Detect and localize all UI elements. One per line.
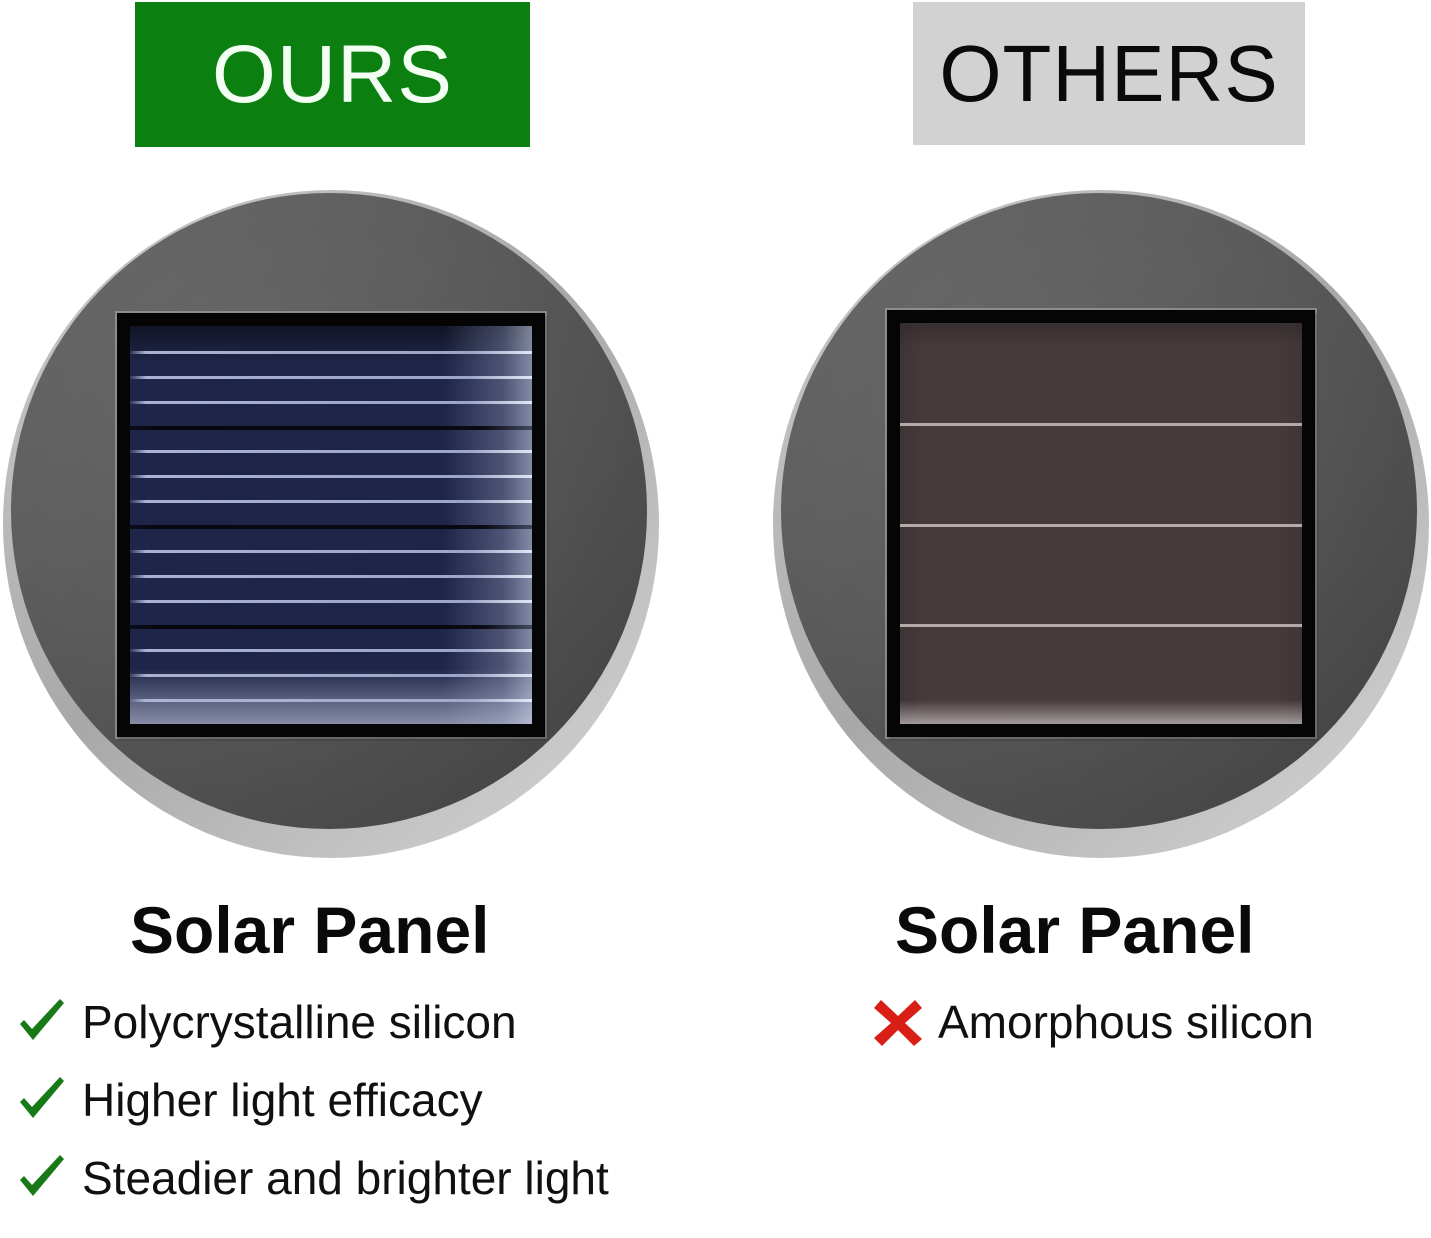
cross-icon — [872, 996, 924, 1048]
cell-busbar-light — [130, 401, 532, 404]
check-icon — [16, 1074, 68, 1126]
feature-row: Steadier and brighter light — [16, 1150, 609, 1206]
cell-busbar-light — [900, 524, 1302, 527]
ours-banner: OURS — [135, 2, 530, 147]
comparison-infographic: OURS OTHERS Solar Panel Solar Panel Poly… — [0, 0, 1431, 1238]
cell-busbar-dark — [130, 525, 532, 529]
right-panel-title: Solar Panel — [895, 897, 1255, 963]
cell-busbar-light — [130, 550, 532, 553]
feature-label: Amorphous silicon — [938, 999, 1314, 1045]
cell-busbar-dark — [130, 426, 532, 430]
left-feature-list: Polycrystalline siliconHigher light effi… — [16, 994, 609, 1206]
polycrystalline-cell — [130, 326, 532, 724]
cell-busbar-light — [130, 600, 532, 603]
cell-busbar-light — [900, 624, 1302, 627]
cell-busbar-light — [130, 649, 532, 652]
feature-label: Polycrystalline silicon — [82, 999, 517, 1045]
check-icon — [16, 996, 68, 1048]
others-banner: OTHERS — [913, 2, 1305, 145]
cell-busbar-light — [130, 450, 532, 453]
feature-label: Steadier and brighter light — [82, 1155, 609, 1201]
cell-busbar-light — [130, 575, 532, 578]
right-feature-list: Amorphous silicon — [872, 994, 1314, 1050]
cell-busbar-light — [900, 423, 1302, 426]
amorphous-cell — [900, 323, 1302, 724]
cell-busbar-light — [130, 699, 532, 702]
cell-busbar-light — [130, 500, 532, 503]
cell-busbar-light — [130, 674, 532, 677]
left-panel-title: Solar Panel — [130, 897, 490, 963]
feature-row: Polycrystalline silicon — [16, 994, 609, 1050]
cell-busbar-dark — [130, 625, 532, 629]
cell-busbar-light — [130, 475, 532, 478]
polycrystalline-panel — [117, 313, 545, 737]
cell-busbar-light — [130, 376, 532, 379]
feature-label: Higher light efficacy — [82, 1077, 483, 1123]
cell-busbar-light — [130, 351, 532, 354]
feature-row: Amorphous silicon — [872, 994, 1314, 1050]
feature-row: Higher light efficacy — [16, 1072, 609, 1128]
amorphous-panel — [887, 310, 1315, 737]
check-icon — [16, 1152, 68, 1204]
